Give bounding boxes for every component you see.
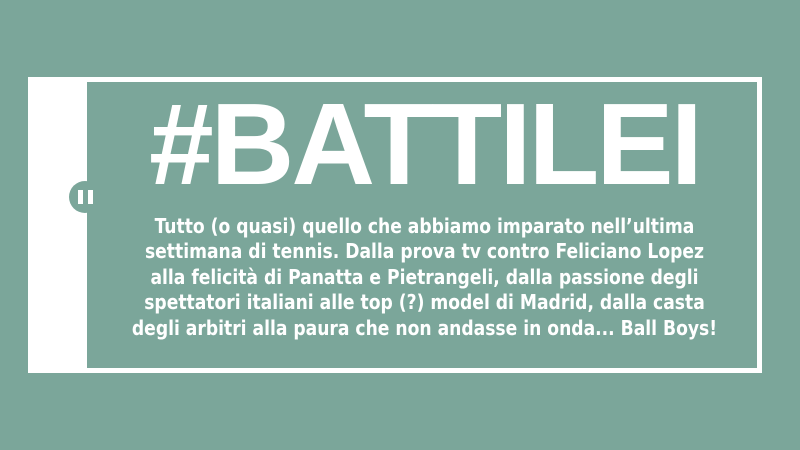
player-sidebar [28, 77, 87, 373]
description-line: degli arbitri alla paura che non andasse… [122, 316, 727, 342]
description-block: Tutto (o quasi) quello che abbiamo impar… [122, 214, 727, 342]
poster-canvas: #BATTILEI Tutto (o quasi) quello che abb… [0, 0, 800, 450]
description-line: Tutto (o quasi) quello che abbiamo impar… [122, 214, 727, 240]
card-content: #BATTILEI Tutto (o quasi) quello che abb… [87, 77, 762, 373]
description-line: spettatori italiani alle top (?) model d… [122, 290, 727, 316]
page-title: #BATTILEI [149, 91, 700, 198]
description-line: alla felicità di Panatta e Pietrangeli, … [122, 265, 727, 291]
description-line: settimana di tennis. Dalla prova tv cont… [122, 239, 727, 265]
pause-icon-bar-left [78, 190, 83, 204]
